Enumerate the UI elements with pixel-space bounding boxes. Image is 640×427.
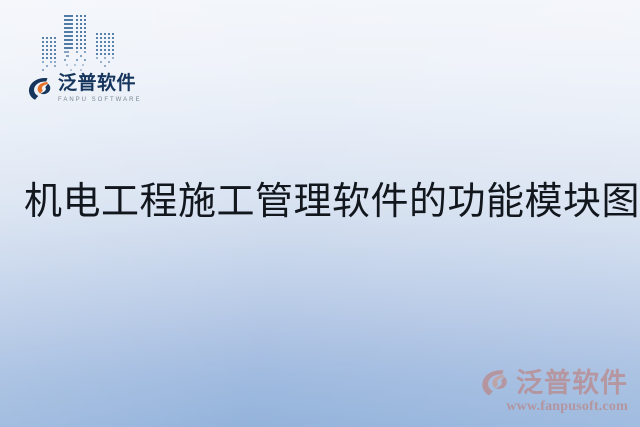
brand-logo: 泛普软件 FANPU SOFTWARE: [27, 74, 141, 103]
brand-name-en: FANPU SOFTWARE: [58, 97, 141, 103]
watermark-brand-name: 泛普软件: [516, 369, 628, 397]
brand-name-cn: 泛普软件: [58, 74, 141, 94]
watermark: 泛普软件 www.fanpusoft.com: [480, 368, 628, 415]
watermark-fanpu-swoosh-logo-icon: [480, 368, 510, 398]
watermark-brand-row: 泛普软件: [480, 368, 628, 398]
brand-wordmark: 泛普软件 FANPU SOFTWARE: [58, 74, 141, 103]
page-title: 机电工程施工管理软件的功能模块图: [24, 181, 624, 223]
fanpu-swoosh-logo-icon: [27, 76, 53, 102]
dotted-city-skyline: [36, 6, 132, 76]
watermark-url: www.fanpusoft.com: [506, 399, 628, 415]
title-slide: 泛普软件 FANPU SOFTWARE 机电工程施工管理软件的功能模块图 泛普软…: [0, 0, 640, 427]
